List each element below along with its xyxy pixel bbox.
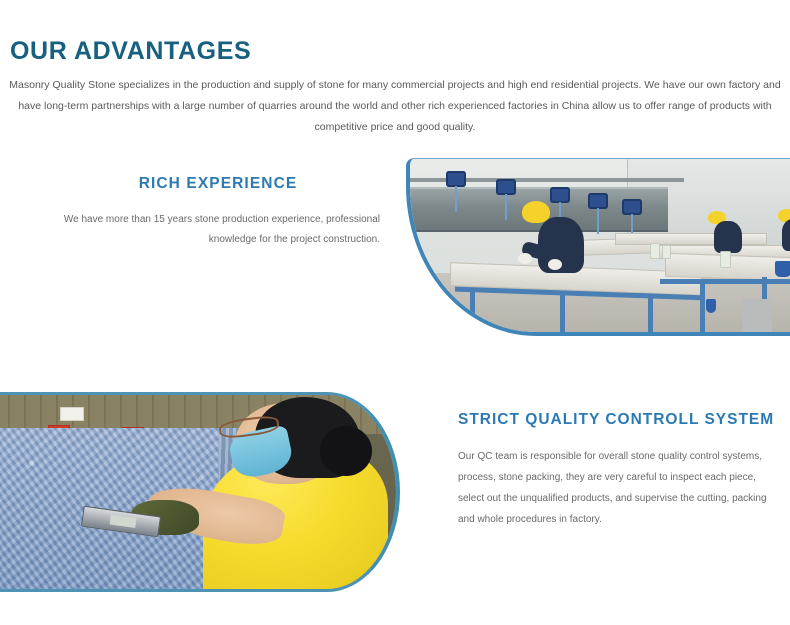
rich-experience-title: RICH EXPERIENCE (30, 176, 380, 192)
bench-leg (560, 293, 565, 333)
factory-worker (520, 201, 590, 291)
worker-glove (548, 259, 562, 270)
intro-paragraph: Masonry Quality Stone specializes in the… (8, 75, 782, 138)
factory-worker (778, 209, 790, 255)
tool-cart (742, 299, 772, 333)
page-title: OUR ADVANTAGES (10, 39, 251, 64)
supply-bottle (650, 243, 660, 259)
paint-bucket (775, 261, 790, 277)
bench-leg (648, 295, 653, 333)
supply-bottle (720, 251, 731, 268)
hose-reel-icon (622, 199, 642, 215)
bench-leg (700, 279, 705, 333)
worker-glove (518, 253, 532, 264)
supply-bottle (662, 245, 671, 259)
advantages-page: OUR ADVANTAGES Masonry Quality Stone spe… (0, 0, 790, 625)
worker-body (714, 221, 742, 253)
hose-reel-icon (588, 193, 608, 209)
paint-bucket (706, 299, 716, 313)
hose-reel-icon (446, 171, 466, 187)
factory-workers-photo (406, 158, 790, 336)
bench-rail (660, 279, 790, 284)
bench-leg (470, 289, 475, 329)
inspector-hair-bun (320, 426, 372, 476)
section-rich-experience: RICH EXPERIENCE We have more than 15 yea… (30, 176, 380, 250)
inspection-photo-content (0, 395, 396, 589)
strict-quality-controll-system-body: Our QC team is responsible for overall s… (458, 446, 780, 530)
strict-quality-controll-system-title: STRICT QUALITY CONTROLL SYSTEM (458, 412, 780, 428)
factory-photo-content (410, 159, 790, 332)
wall-sign (60, 407, 84, 421)
section-strict-quality-controll-system: STRICT QUALITY CONTROLL SYSTEM Our QC te… (458, 412, 780, 530)
quality-inspection-photo (0, 392, 400, 592)
hose-reel-icon (496, 179, 516, 195)
worker-body (782, 219, 790, 251)
rich-experience-body: We have more than 15 years stone product… (30, 210, 380, 250)
